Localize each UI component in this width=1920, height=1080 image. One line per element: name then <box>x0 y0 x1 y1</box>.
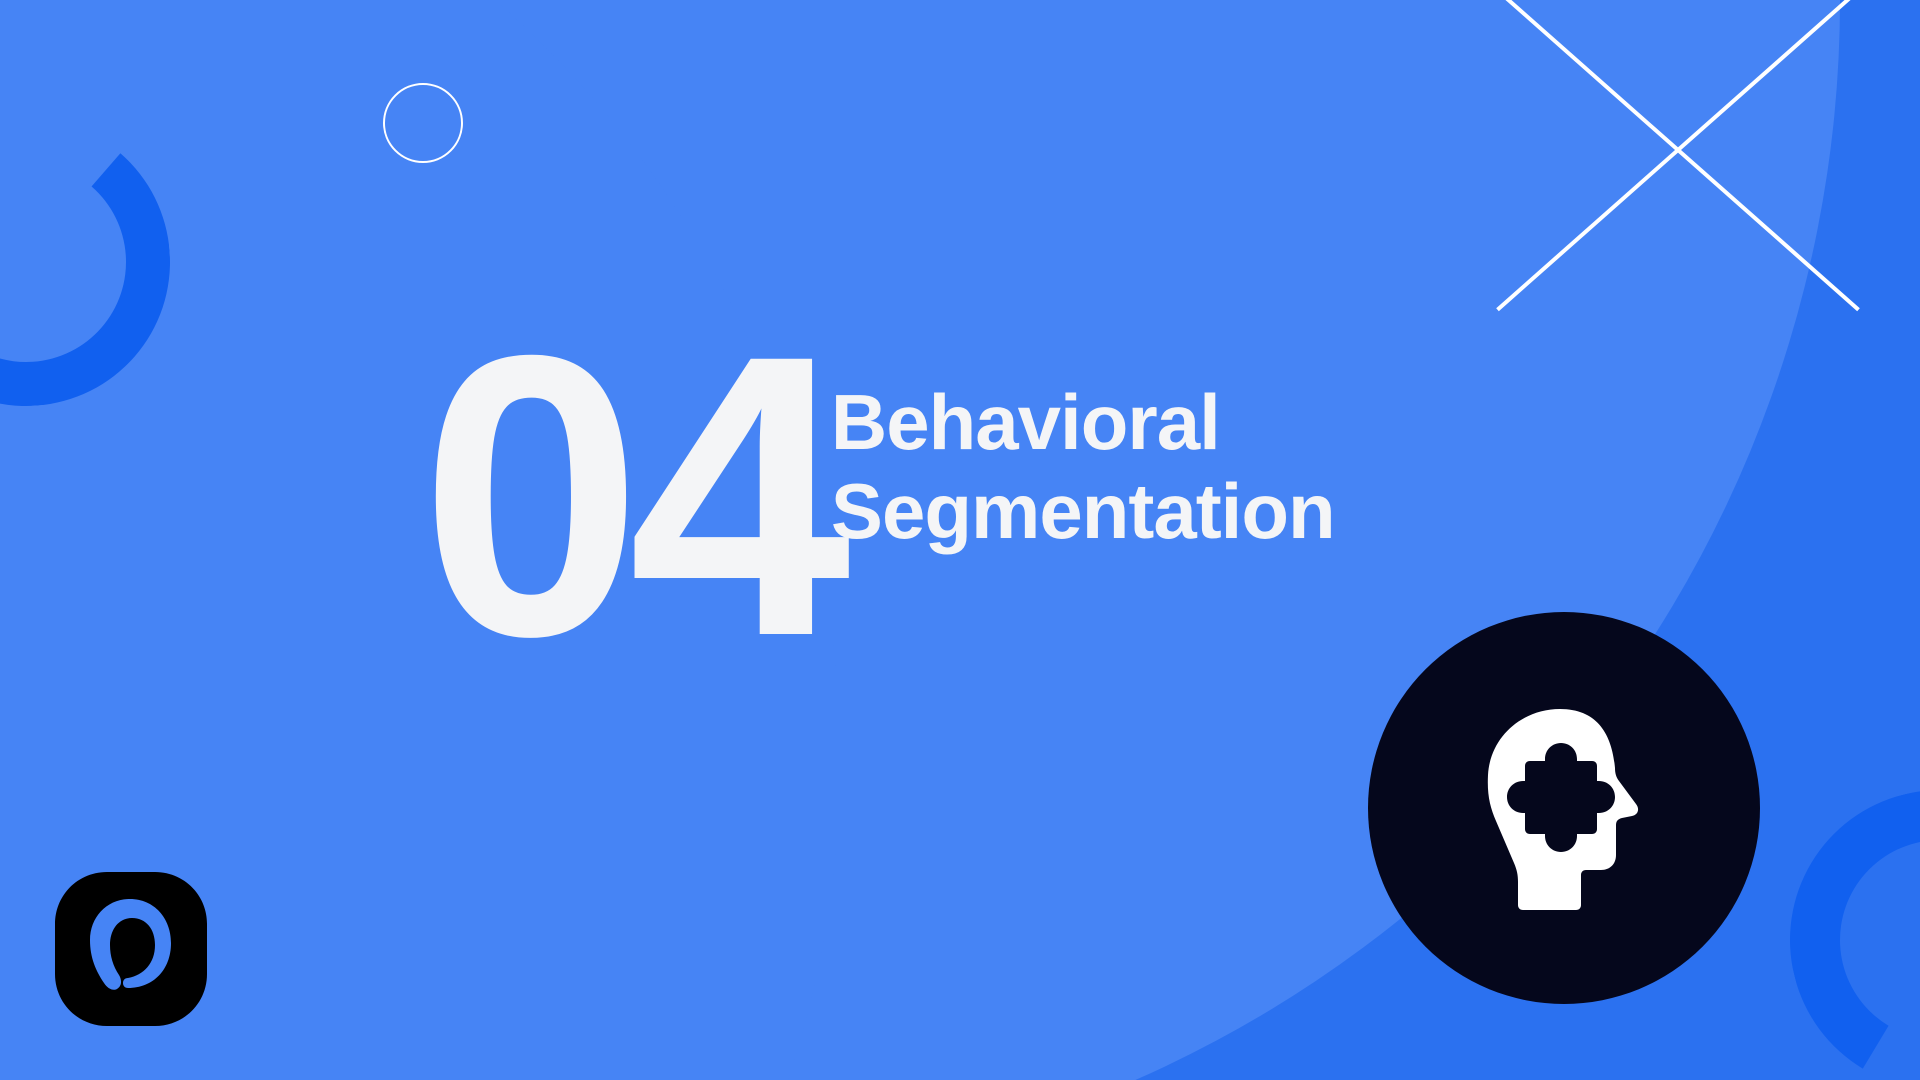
page-title-line-1: Behavioral <box>831 378 1335 467</box>
head-puzzle-icon <box>1464 703 1664 913</box>
headline-group: 04 Behavioral Segmentation <box>420 340 1335 652</box>
step-number: 04 <box>420 340 837 652</box>
slide-canvas: 04 Behavioral Segmentation <box>0 0 1920 1080</box>
brand-logo <box>55 872 207 1026</box>
slide-content: 04 Behavioral Segmentation <box>0 0 1920 1080</box>
icon-badge <box>1368 612 1760 1004</box>
page-title: Behavioral Segmentation <box>831 378 1335 556</box>
page-title-line-2: Segmentation <box>831 467 1335 556</box>
